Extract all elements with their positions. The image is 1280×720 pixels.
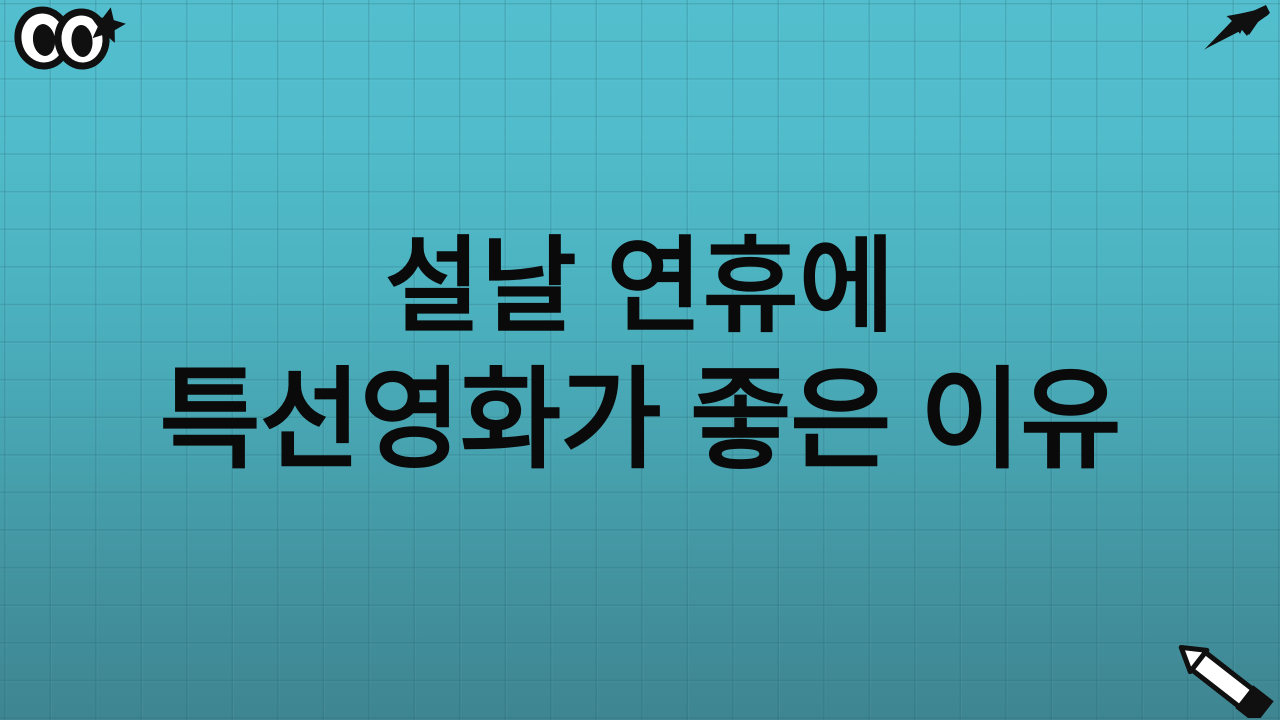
cartoon-eyes-star-logo — [8, 2, 133, 72]
title-line-1: 설날 연휴에 — [24, 222, 1256, 352]
page-title: 설날 연휴에 특선영화가 좋은 이유 — [0, 222, 1280, 490]
pencil-icon — [1164, 640, 1276, 718]
title-line-2: 특선영화가 좋은 이유 — [24, 352, 1256, 490]
arrow-cursor-icon — [1202, 2, 1272, 54]
eyes-icon — [8, 2, 133, 72]
thumbnail-canvas: 설날 연휴에 특선영화가 좋은 이유 — [0, 0, 1280, 720]
pencil-glyph-icon — [1164, 640, 1276, 718]
arrow-down-left-icon — [1202, 2, 1272, 54]
